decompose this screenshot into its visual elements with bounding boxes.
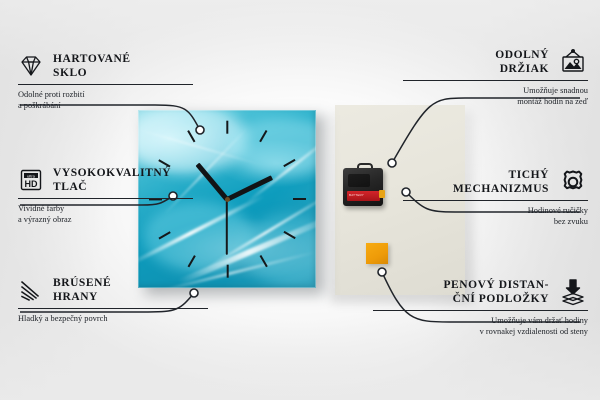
clock-mechanism: BATTERY bbox=[343, 168, 383, 206]
feature-title: TICHÝ MECHANIZMUS bbox=[453, 168, 549, 196]
battery-terminal bbox=[379, 190, 385, 198]
ultra-hd-icon: ultra HD bbox=[18, 168, 44, 192]
feature-divider bbox=[18, 308, 208, 309]
feature-durable-holder: ODOLNÝ DRŽIAK Umožňuje snadnou montáž ho… bbox=[403, 48, 588, 107]
feature-divider bbox=[403, 80, 588, 81]
feature-head: TICHÝ MECHANIZMUS bbox=[403, 168, 588, 196]
feature-high-quality-print: ultra HD VYSOKOKVALITNÝ TLAČ Vividné far… bbox=[18, 166, 193, 225]
feature-title: PENOVÝ DISTAN- ČNÍ PODLOŽKY bbox=[443, 278, 549, 306]
feature-description: Odolné proti rozbití a poškrábání bbox=[18, 89, 193, 111]
feature-description: Umožňuje snadnou montáž hodin na zeď bbox=[403, 85, 588, 107]
mechanism-detail bbox=[348, 174, 370, 187]
feature-divider bbox=[403, 200, 588, 201]
diamond-icon bbox=[18, 54, 44, 78]
feature-head: PENOVÝ DISTAN- ČNÍ PODLOŽKY bbox=[373, 278, 588, 306]
feature-head: HARTOVANÉ SKLO bbox=[18, 52, 193, 80]
svg-text:ultra: ultra bbox=[27, 173, 36, 178]
arrow-onto-layers-icon bbox=[558, 278, 588, 306]
feature-silent-mechanism: TICHÝ MECHANIZMUS Hodinové ručičky bez z… bbox=[403, 168, 588, 227]
feature-title: HARTOVANÉ SKLO bbox=[53, 52, 131, 80]
feature-head: ODOLNÝ DRŽIAK bbox=[403, 48, 588, 76]
product-infographic: BATTERY bbox=[0, 0, 600, 400]
feature-divider bbox=[18, 84, 193, 85]
feature-description: Vividné farby a výrazný obraz bbox=[18, 203, 193, 225]
feature-divider bbox=[18, 198, 193, 199]
feature-description: Hodinové ručičky bez zvuku bbox=[403, 205, 588, 227]
feature-tempered-glass: HARTOVANÉ SKLO Odolné proti rozbití a po… bbox=[18, 52, 193, 111]
feature-title: VYSOKOKVALITNÝ TLAČ bbox=[53, 166, 171, 194]
gear-icon bbox=[558, 168, 588, 196]
feature-description: Hladký a bezpečný povrch bbox=[18, 313, 208, 324]
feature-title: BRÚSENÉ HRANY bbox=[53, 276, 111, 304]
feature-head: BRÚSENÉ HRANY bbox=[18, 276, 208, 304]
feature-description: Umožňuje vám držať hodiny v rovnakej vzd… bbox=[373, 315, 588, 337]
feature-foam-spacers: PENOVÝ DISTAN- ČNÍ PODLOŽKY Umožňuje vám… bbox=[373, 278, 588, 337]
feature-title: ODOLNÝ DRŽIAK bbox=[495, 48, 549, 76]
foam-spacer-pad bbox=[366, 243, 388, 264]
battery-label: BATTERY bbox=[349, 193, 364, 197]
feature-divider bbox=[373, 310, 588, 311]
battery: BATTERY bbox=[347, 191, 380, 201]
feature-ground-edges: BRÚSENÉ HRANY Hladký a bezpečný povrch bbox=[18, 276, 208, 324]
feature-head: ultra HD VYSOKOKVALITNÝ TLAČ bbox=[18, 166, 193, 194]
hanging-picture-icon bbox=[558, 49, 588, 75]
svg-text:HD: HD bbox=[25, 179, 38, 189]
diagonal-lines-icon bbox=[18, 278, 44, 302]
